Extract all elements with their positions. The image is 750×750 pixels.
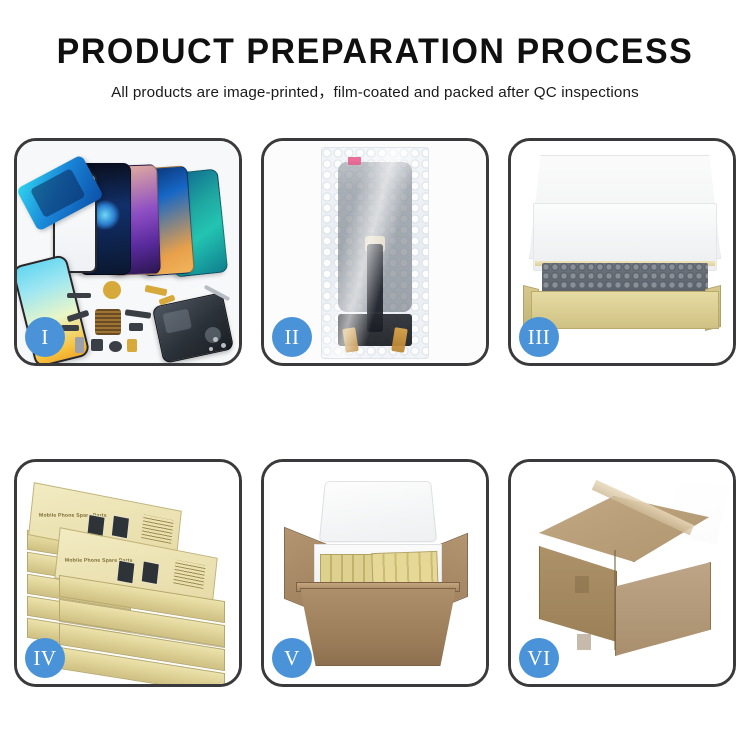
- step-badge-vi: VI: [519, 638, 559, 678]
- part-speaker: [109, 341, 122, 352]
- part-tweezers: [204, 285, 231, 302]
- step-badge-ii: II: [272, 317, 312, 357]
- part-flex-cable-a: [67, 310, 90, 323]
- step-panel-v: V: [261, 459, 489, 687]
- box-label-screen-1b: [111, 515, 130, 540]
- part-earpiece-mesh: [67, 293, 91, 298]
- page-title: PRODUCT PREPARATION PROCESS: [11, 34, 739, 71]
- box-label-screen-2b: [141, 560, 160, 585]
- carton-corner-seam: [614, 550, 616, 650]
- step-panel-ii: II: [261, 138, 489, 366]
- part-camera-module: [91, 339, 103, 351]
- box-label-screen-2a: [116, 560, 135, 585]
- carton-tab-lower: [577, 634, 591, 650]
- outer-carton-body: [300, 588, 456, 666]
- part-grid-mesh: [95, 309, 121, 335]
- part-screw-b: [221, 343, 226, 348]
- part-button-set: [129, 323, 143, 331]
- part-sim-tray: [75, 337, 84, 353]
- part-gold-flex-a: [145, 285, 168, 296]
- product-preparation-infographic: PRODUCT PREPARATION PROCESS All products…: [0, 0, 750, 750]
- part-gold-coil: [103, 281, 121, 299]
- bubble-wrap-bag: [321, 147, 429, 359]
- part-screw-a: [213, 337, 218, 342]
- page-subtitle: All products are image-printed，film-coat…: [0, 80, 750, 102]
- box-front-panel: [531, 291, 719, 329]
- carton-tab-upper: [575, 576, 589, 593]
- step-badge-v: V: [272, 638, 312, 678]
- foam-box-lid: [319, 481, 438, 542]
- part-flex-cable-c: [125, 309, 152, 319]
- pink-qc-label: [348, 157, 361, 165]
- part-gold-flex-b: [158, 294, 175, 305]
- part-connector: [127, 339, 137, 352]
- step-panel-iv: Mobile Phone Spare Parts Mobile Phone Sp…: [14, 459, 242, 687]
- step-panel-iii: III: [508, 138, 736, 366]
- process-steps-grid: I II: [14, 138, 736, 687]
- connector-gold-right: [391, 327, 408, 353]
- part-screw-c: [209, 347, 213, 351]
- box-label-spec-lines-1: [141, 515, 174, 544]
- step-badge-i: I: [25, 317, 65, 357]
- box-label-spec-lines-2: [173, 560, 206, 589]
- step-badge-iv: IV: [25, 638, 65, 678]
- step-panel-vi: VI: [508, 459, 736, 687]
- step-badge-iii: III: [519, 317, 559, 357]
- step-panel-i: I: [14, 138, 242, 366]
- header: PRODUCT PREPARATION PROCESS All products…: [0, 0, 750, 102]
